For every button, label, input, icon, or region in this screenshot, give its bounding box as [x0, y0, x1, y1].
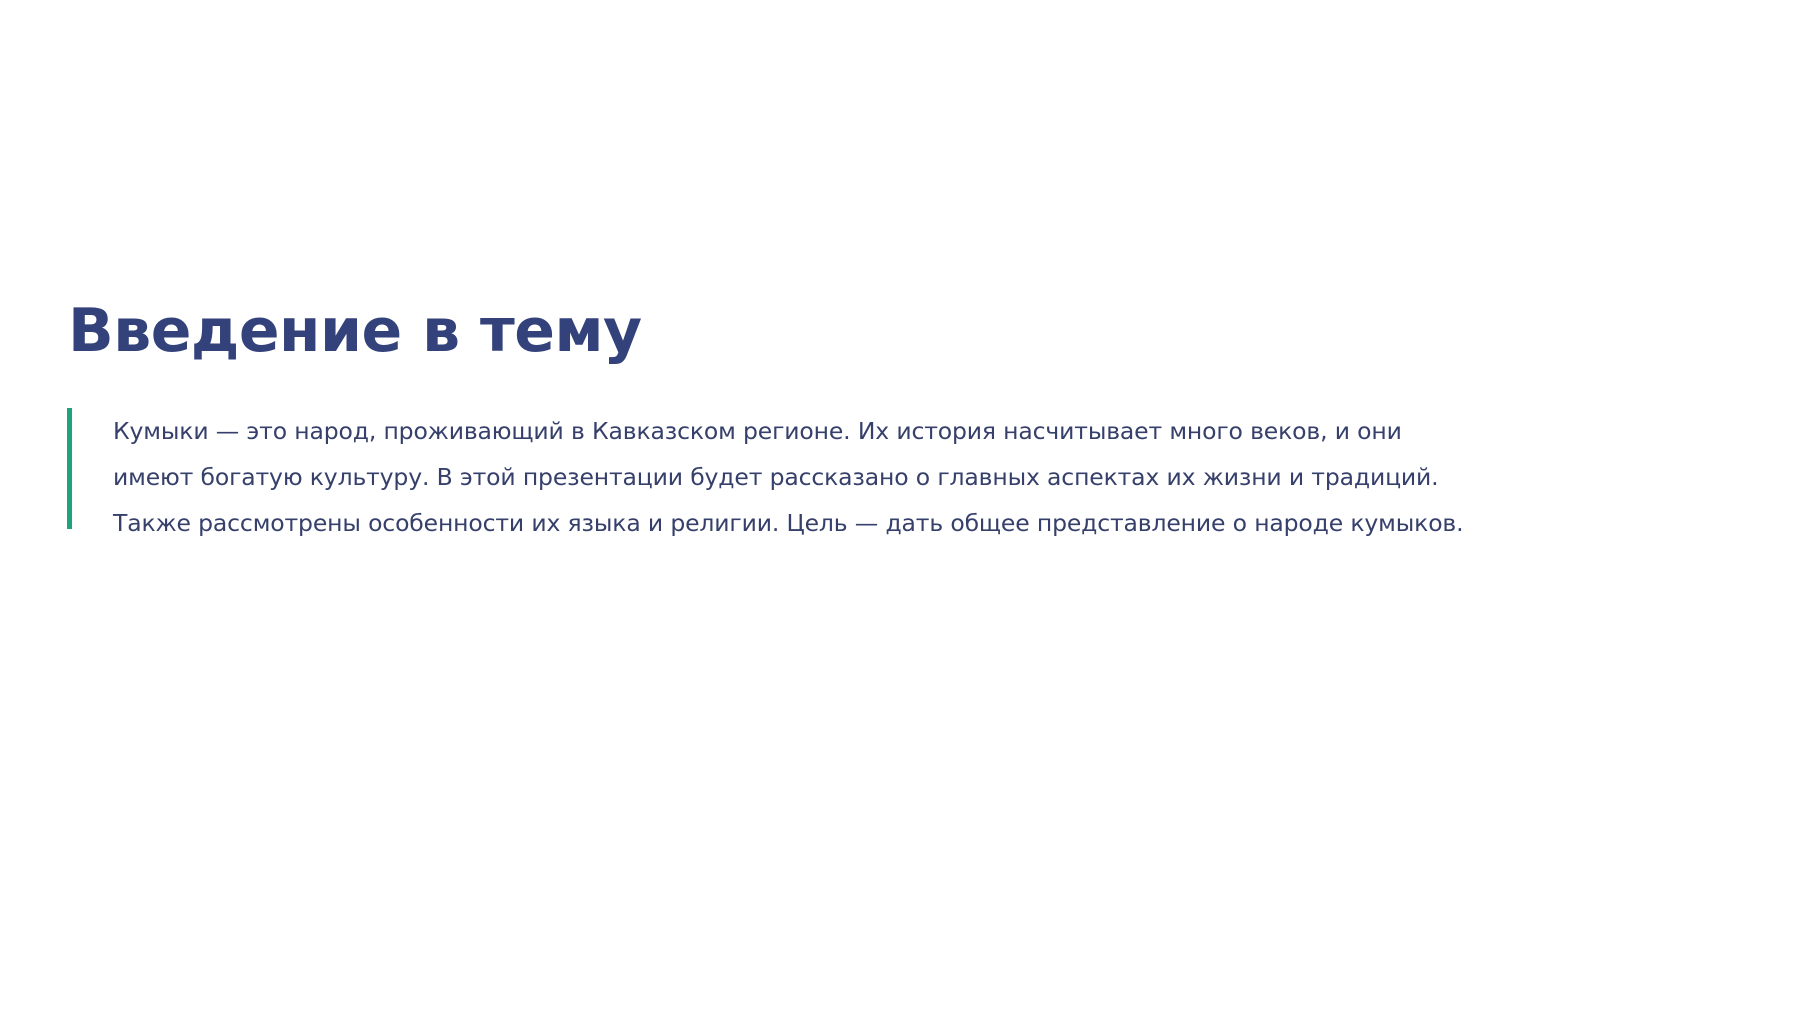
accent-bar — [67, 408, 72, 529]
body-paragraph: Кумыки — это народ, проживающий в Кавказ… — [113, 408, 1489, 546]
slide-content-block: Введение в тему Кумыки — это народ, прож… — [67, 296, 1567, 546]
presentation-slide: Введение в тему Кумыки — это народ, прож… — [0, 0, 1800, 1013]
body-text-block: Кумыки — это народ, проживающий в Кавказ… — [67, 408, 1567, 546]
page-title: Введение в тему — [67, 296, 1567, 367]
